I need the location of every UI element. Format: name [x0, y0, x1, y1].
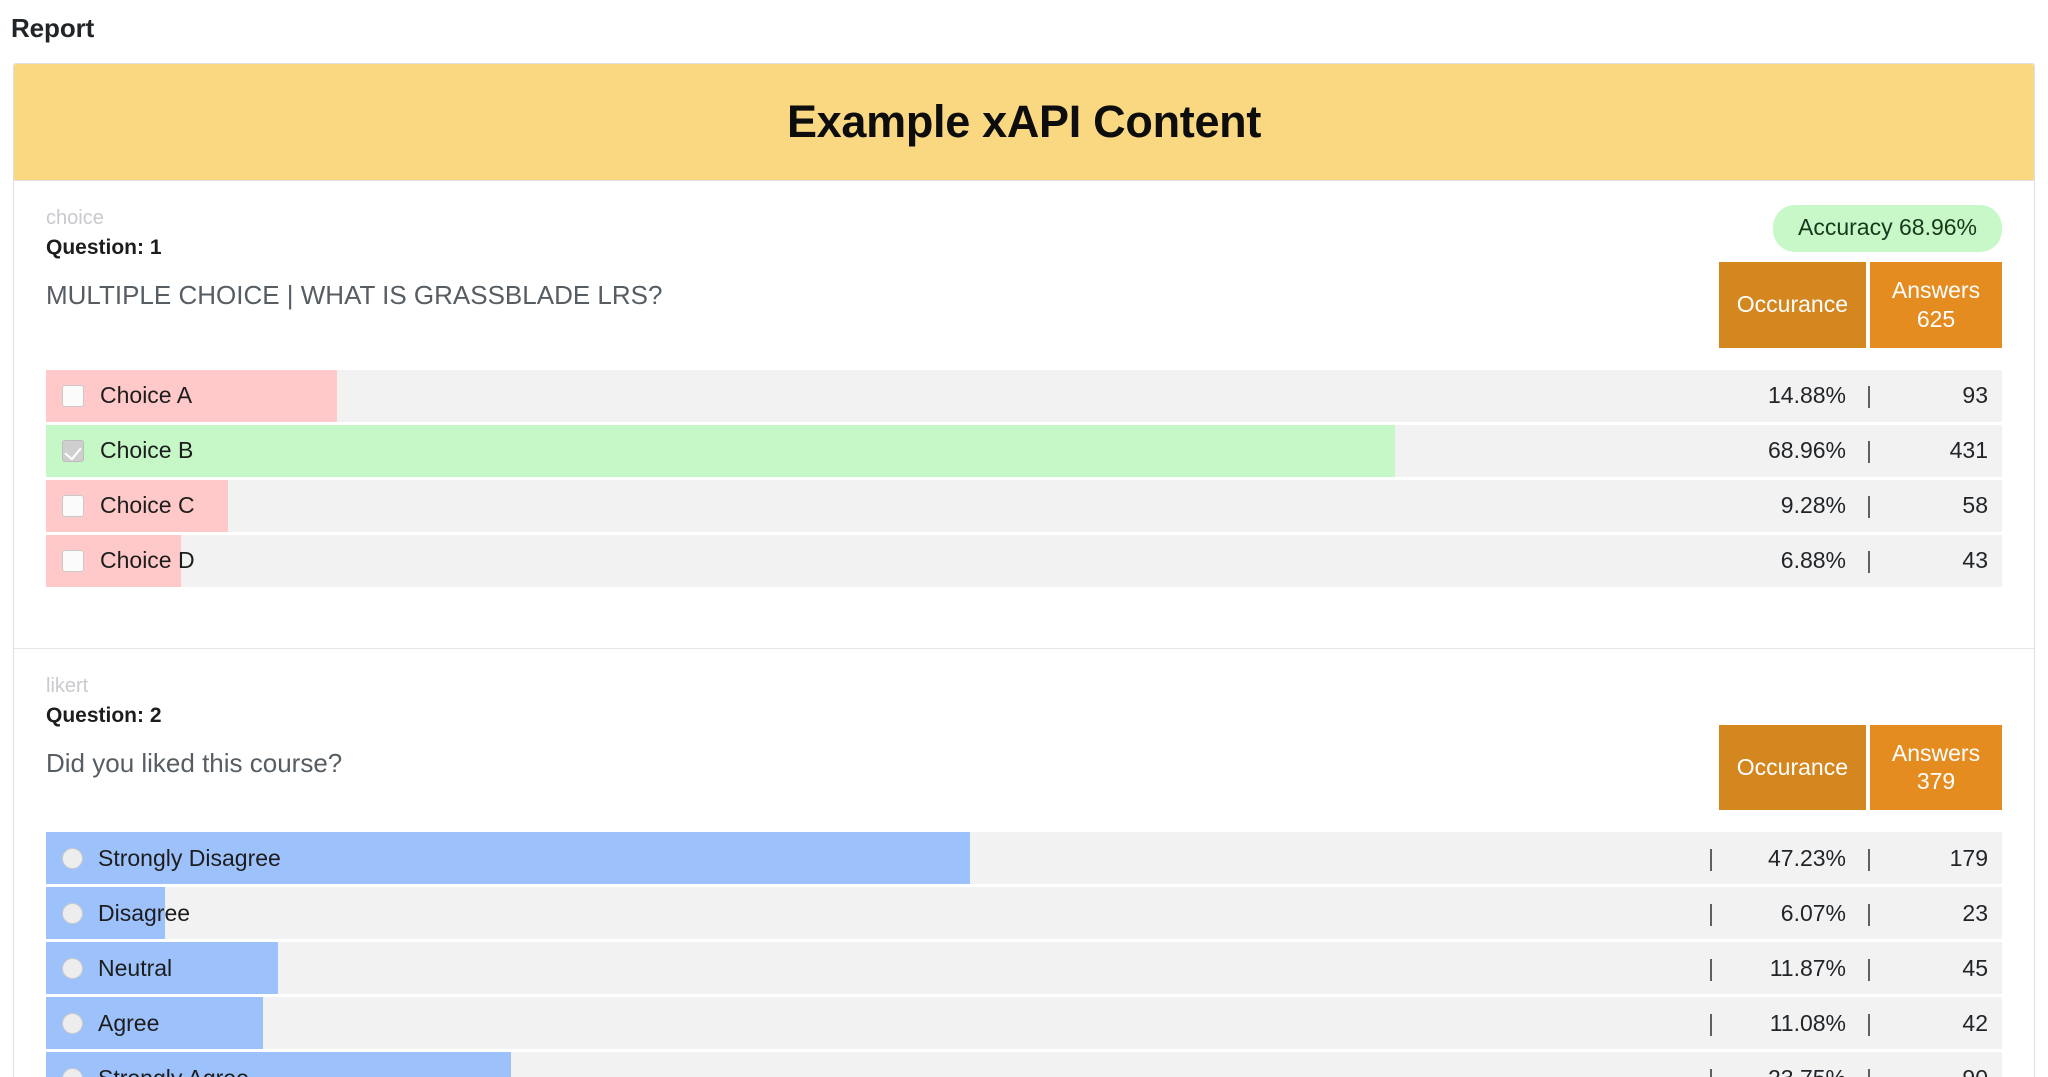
answer-count: 23: [1892, 900, 1988, 927]
occurance-button[interactable]: Occurance: [1719, 262, 1866, 348]
content-title: Example xAPI Content: [787, 96, 1261, 148]
radio-icon: [62, 1068, 83, 1077]
report-card: Example xAPI Content choiceQuestion: 1MU…: [13, 63, 2035, 1077]
bar-track: [46, 535, 2002, 587]
answer-values: |6.07%|23: [1688, 887, 2002, 939]
answer-option: Disagree: [46, 900, 190, 927]
stat-button-row: OccuranceAnswers379: [1719, 725, 2002, 811]
answer-count: 45: [1892, 955, 1988, 982]
value-separator: |: [1846, 1065, 1892, 1077]
answer-option: Choice B: [46, 437, 193, 464]
answer-option-label: Neutral: [98, 955, 172, 982]
answer-option-label: Agree: [98, 1010, 159, 1037]
answers-button[interactable]: Answers625: [1870, 262, 2002, 348]
answers-button-label: Answers: [1892, 740, 1980, 766]
answer-bar-row: Choice C9.28%|58: [46, 480, 2002, 532]
question-text: MULTIPLE CHOICE | WHAT IS GRASSBLADE LRS…: [46, 280, 662, 311]
bar-track: [46, 370, 2002, 422]
question-block: choiceQuestion: 1MULTIPLE CHOICE | WHAT …: [14, 181, 2034, 649]
answer-count: 90: [1892, 1065, 1988, 1077]
answer-values: 14.88%|93: [1734, 370, 2002, 422]
value-separator: |: [1688, 845, 1734, 872]
question-text: Did you liked this course?: [46, 748, 342, 779]
answers-button[interactable]: Answers379: [1870, 725, 2002, 811]
answer-option-label: Choice B: [100, 437, 193, 464]
answer-option: Strongly Disagree: [46, 845, 281, 872]
answer-bar-row: Strongly Agree|23.75%|90: [46, 1052, 2002, 1077]
radio-icon: [62, 848, 83, 869]
radio-icon: [62, 958, 83, 979]
question-number: Question: 1: [46, 235, 662, 260]
answer-percent: 14.88%: [1734, 382, 1846, 409]
checkbox-checked-icon: [62, 440, 84, 462]
answer-percent: 11.08%: [1734, 1010, 1846, 1037]
value-separator: |: [1846, 900, 1892, 927]
content-banner: Example xAPI Content: [14, 64, 2034, 181]
answer-option: Choice C: [46, 492, 195, 519]
question-block: likertQuestion: 2Did you liked this cour…: [14, 649, 2034, 1077]
answer-values: |11.87%|45: [1688, 942, 2002, 994]
answer-option-label: Strongly Agree: [98, 1065, 249, 1077]
answer-bars: Choice A14.88%|93Choice B68.96%|431Choic…: [46, 370, 2002, 587]
answer-bar-row: Choice B68.96%|431: [46, 425, 2002, 477]
answer-count: 43: [1892, 547, 1988, 574]
stat-button-row: OccuranceAnswers625: [1719, 262, 2002, 348]
question-stats: Accuracy 68.96%OccuranceAnswers625: [1719, 205, 2002, 348]
value-separator: |: [1846, 547, 1892, 574]
answer-count: 431: [1892, 437, 1988, 464]
answer-percent: 9.28%: [1734, 492, 1846, 519]
answers-button-label: Answers: [1892, 277, 1980, 303]
answers-button-count: 379: [1884, 767, 1988, 796]
bar-fill: [46, 425, 1395, 477]
answer-values: 6.88%|43: [1734, 535, 2002, 587]
radio-icon: [62, 903, 83, 924]
block-spacer: [46, 590, 2002, 624]
question-number: Question: 2: [46, 703, 342, 728]
value-separator: |: [1688, 1065, 1734, 1077]
value-separator: |: [1688, 955, 1734, 982]
answer-percent: 6.88%: [1734, 547, 1846, 574]
answer-bar-row: Strongly Disagree|47.23%|179: [46, 832, 2002, 884]
question-header: choiceQuestion: 1MULTIPLE CHOICE | WHAT …: [46, 205, 2002, 348]
answers-button-count: 625: [1884, 305, 1988, 334]
answer-bars: Strongly Disagree|47.23%|179Disagree|6.0…: [46, 832, 2002, 1077]
value-separator: |: [1846, 845, 1892, 872]
answer-bar-row: Neutral|11.87%|45: [46, 942, 2002, 994]
value-separator: |: [1846, 1010, 1892, 1037]
questions-list: choiceQuestion: 1MULTIPLE CHOICE | WHAT …: [14, 181, 2034, 1077]
answer-values: 9.28%|58: [1734, 480, 2002, 532]
answer-bar-row: Agree|11.08%|42: [46, 997, 2002, 1049]
answer-option-label: Choice C: [100, 492, 195, 519]
question-stats: OccuranceAnswers379: [1719, 673, 2002, 811]
answer-percent: 11.87%: [1734, 955, 1846, 982]
question-meta: choiceQuestion: 1MULTIPLE CHOICE | WHAT …: [46, 205, 662, 311]
answer-percent: 68.96%: [1734, 437, 1846, 464]
value-separator: |: [1846, 437, 1892, 464]
answer-option-label: Disagree: [98, 900, 190, 927]
accuracy-badge: Accuracy 68.96%: [1773, 205, 2002, 252]
value-separator: |: [1846, 955, 1892, 982]
answer-option-label: Choice D: [100, 547, 195, 574]
value-separator: |: [1846, 492, 1892, 519]
answer-option: Choice D: [46, 547, 195, 574]
answer-count: 42: [1892, 1010, 1988, 1037]
answer-values: |47.23%|179: [1688, 832, 2002, 884]
answer-option-label: Choice A: [100, 382, 192, 409]
answer-bar-row: Choice A14.88%|93: [46, 370, 2002, 422]
question-meta: likertQuestion: 2Did you liked this cour…: [46, 673, 342, 779]
answer-count: 179: [1892, 845, 1988, 872]
value-separator: |: [1846, 382, 1892, 409]
question-header: likertQuestion: 2Did you liked this cour…: [46, 673, 2002, 811]
checkbox-icon: [62, 385, 84, 407]
answer-values: 68.96%|431: [1734, 425, 2002, 477]
answer-values: |11.08%|42: [1688, 997, 2002, 1049]
answer-option-label: Strongly Disagree: [98, 845, 281, 872]
checkbox-icon: [62, 550, 84, 572]
answer-count: 58: [1892, 492, 1988, 519]
question-kind: likert: [46, 675, 342, 698]
answer-count: 93: [1892, 382, 1988, 409]
answer-option: Neutral: [46, 955, 172, 982]
radio-icon: [62, 1013, 83, 1034]
answer-percent: 6.07%: [1734, 900, 1846, 927]
checkbox-icon: [62, 495, 84, 517]
answer-bar-row: Disagree|6.07%|23: [46, 887, 2002, 939]
value-separator: |: [1688, 1010, 1734, 1037]
answer-percent: 47.23%: [1734, 845, 1846, 872]
answer-percent: 23.75%: [1734, 1065, 1846, 1077]
report-page: Report Example xAPI Content choiceQuesti…: [0, 0, 2048, 1077]
bar-track: [46, 480, 2002, 532]
page-title: Report: [0, 0, 2048, 44]
answer-values: |23.75%|90: [1688, 1052, 2002, 1077]
value-separator: |: [1688, 900, 1734, 927]
answer-option: Agree: [46, 1010, 159, 1037]
question-kind: choice: [46, 207, 662, 230]
answer-option: Choice A: [46, 382, 192, 409]
answer-option: Strongly Agree: [46, 1065, 249, 1077]
answer-bar-row: Choice D6.88%|43: [46, 535, 2002, 587]
occurance-button[interactable]: Occurance: [1719, 725, 1866, 811]
